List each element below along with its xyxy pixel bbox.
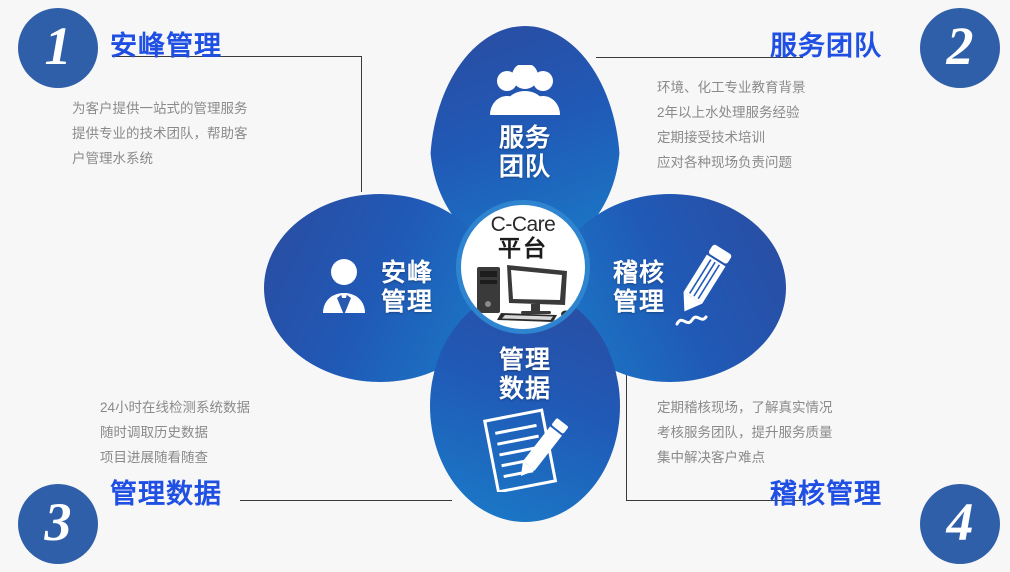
body-line: 项目进展随看随查 bbox=[100, 445, 250, 470]
flower-diagram: 服务团队 安峰管理 稽核管理 bbox=[258, 18, 788, 528]
desktop-computer-icon bbox=[471, 261, 575, 328]
clipboard-pencil-icon bbox=[477, 408, 573, 497]
badge-number-3: 3 bbox=[18, 484, 98, 564]
petal-label-anfeng-management: 安峰管理 bbox=[381, 259, 433, 317]
quadrant-body-anfeng-management: 为客户提供一站式的管理服务提供专业的技术团队，帮助客户管理水系统 bbox=[72, 96, 248, 171]
center-hub-ccare-platform[interactable]: C-Care 平台 bbox=[456, 200, 590, 334]
infographic-canvas: 1 2 3 4 安峰管理 服务团队 管理数据 稽核管理 为客户提供一站式的管理服… bbox=[0, 0, 1010, 572]
people-group-icon bbox=[482, 65, 568, 120]
petal-label-management-data: 管理数据 bbox=[499, 346, 551, 404]
badge-number-4: 4 bbox=[920, 484, 1000, 564]
hub-subtitle: 平台 bbox=[498, 236, 548, 260]
hub-title: C-Care bbox=[491, 214, 556, 236]
petal-label-audit-management: 稽核管理 bbox=[613, 259, 665, 317]
body-line: 户管理水系统 bbox=[72, 146, 248, 171]
badge-number-2: 2 bbox=[920, 8, 1000, 88]
body-line: 24小时在线检测系统数据 bbox=[100, 395, 250, 420]
petal-label-service-team: 服务团队 bbox=[499, 124, 551, 182]
businessman-icon bbox=[313, 255, 375, 322]
quadrant-title-management-data: 管理数据 bbox=[110, 472, 222, 511]
body-line: 提供专业的技术团队，帮助客 bbox=[72, 121, 248, 146]
body-line: 为客户提供一站式的管理服务 bbox=[72, 96, 248, 121]
quadrant-title-anfeng-management: 安峰管理 bbox=[110, 24, 222, 63]
body-line: 随时调取历史数据 bbox=[100, 420, 250, 445]
badge-number-1: 1 bbox=[18, 8, 98, 88]
quadrant-body-management-data: 24小时在线检测系统数据随时调取历史数据项目进展随看随查 bbox=[100, 395, 250, 470]
pencil-signature-icon bbox=[671, 240, 737, 337]
